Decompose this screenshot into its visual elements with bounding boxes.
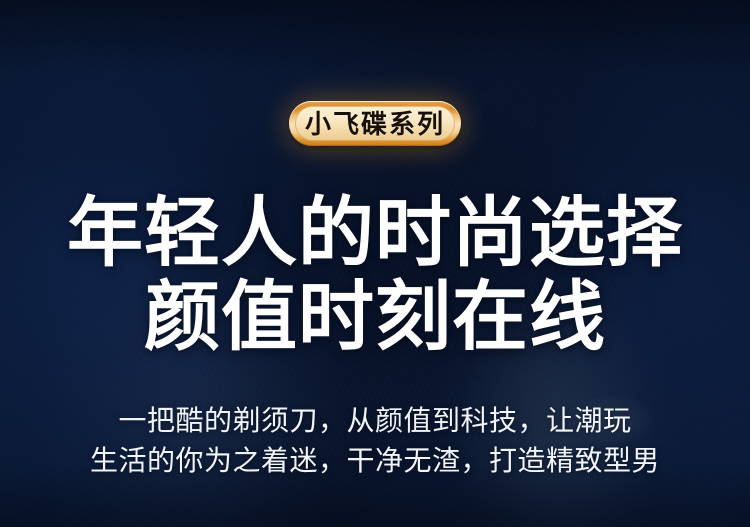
headline: 年轻人的时尚选择 颜值时刻在线 <box>0 196 750 356</box>
subtitle: 一把酷的剃须刀，从颜值到科技，让潮玩 生活的你为之着迷，干净无渣，打造精致型男 <box>0 401 750 481</box>
series-badge: 小飞碟系列 <box>289 101 461 146</box>
subtitle-line-1: 一把酷的剃须刀，从颜值到科技，让潮玩 <box>0 401 750 441</box>
headline-line-2: 颜值时刻在线 <box>0 280 750 356</box>
series-badge-label: 小飞碟系列 <box>305 111 445 137</box>
subtitle-line-2: 生活的你为之着迷，干净无渣，打造精致型男 <box>0 441 750 481</box>
series-badge-pill: 小飞碟系列 <box>289 101 461 146</box>
product-promo-banner: 小飞碟系列 年轻人的时尚选择 颜值时刻在线 一把酷的剃须刀，从颜值到科技，让潮玩… <box>0 0 750 527</box>
headline-line-1: 年轻人的时尚选择 <box>0 196 750 272</box>
banner-content: 小飞碟系列 年轻人的时尚选择 颜值时刻在线 一把酷的剃须刀，从颜值到科技，让潮玩… <box>0 0 750 527</box>
